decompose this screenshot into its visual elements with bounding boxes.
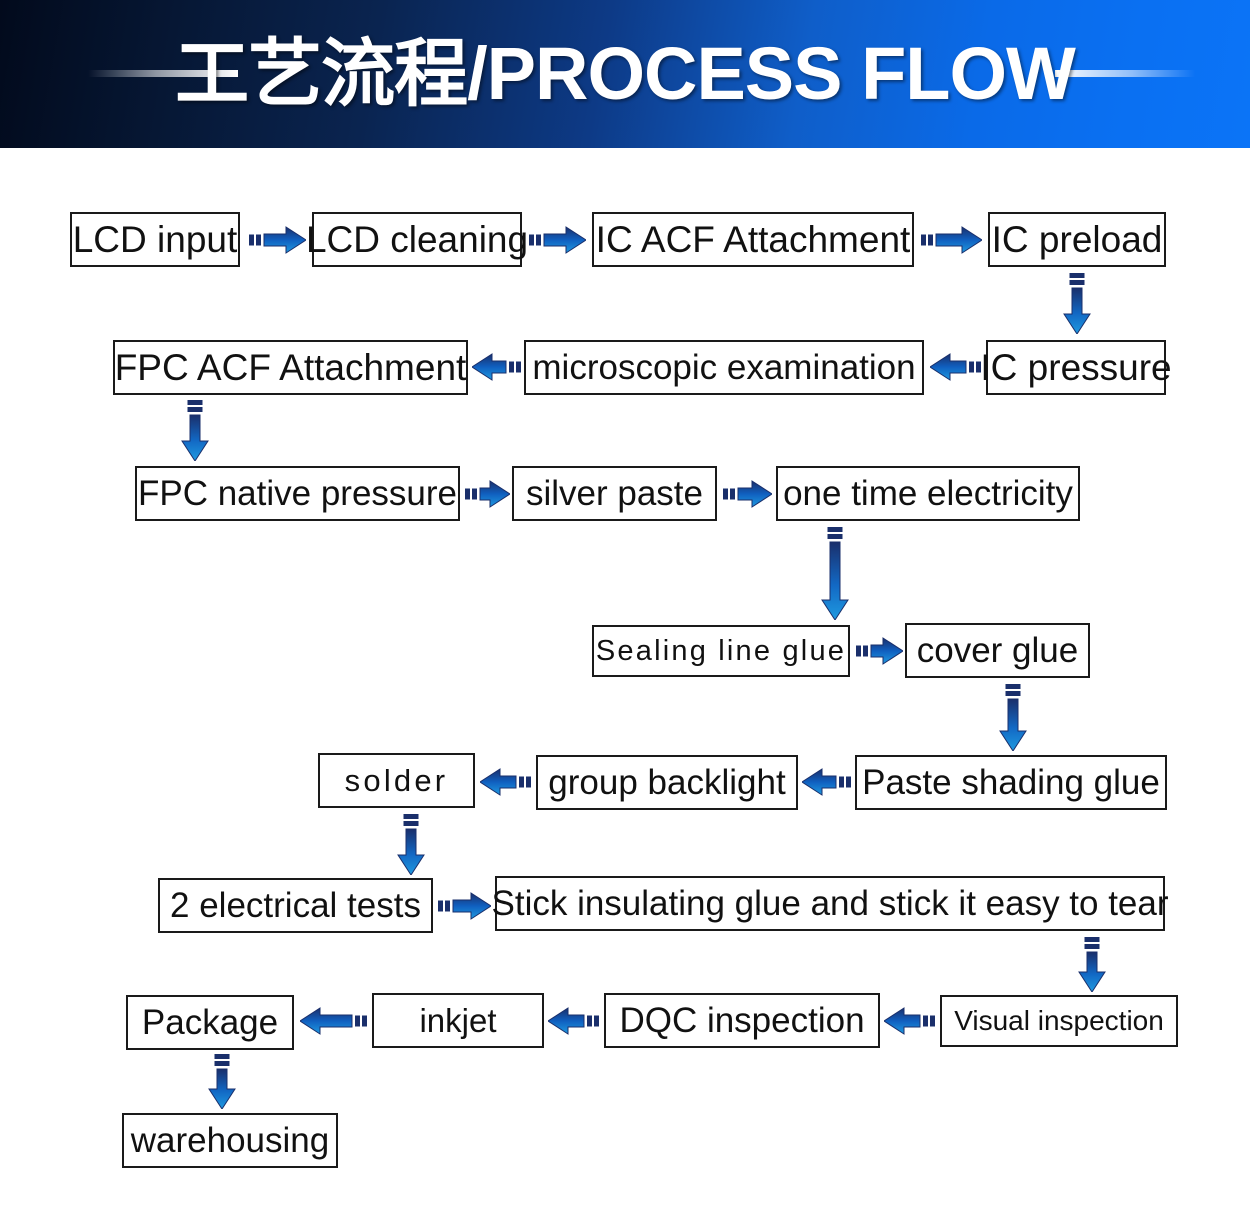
process-step-ic-pressure: IC pressure — [986, 340, 1166, 395]
process-step-visual-inspection: Visual inspection — [940, 995, 1178, 1047]
process-step-label: one time electricity — [783, 476, 1073, 511]
process-step-label: FPC ACF Attachment — [115, 349, 467, 386]
process-step-label: Visual inspection — [954, 1007, 1164, 1035]
process-step-cover-glue: cover glue — [905, 623, 1090, 678]
flow-arrow-down-n12-to-n13 — [998, 683, 1028, 751]
page-title: 工艺流程/PROCESS FLOW — [0, 0, 1250, 148]
flow-arrow-right-n11-to-n12 — [855, 636, 903, 666]
process-step-inkjet: inkjet — [372, 993, 544, 1048]
flow-arrow-down-n7-to-n8 — [180, 399, 210, 461]
process-step-label: LCD input — [73, 221, 238, 258]
process-flow-diagram: LCD inputLCD cleaningIC ACF AttachmentIC… — [0, 148, 1250, 1226]
process-step-label: inkjet — [419, 1004, 496, 1037]
process-step-fpc-acf-attachment: FPC ACF Attachment — [113, 340, 468, 395]
flow-arrow-down-n4-to-n5 — [1062, 272, 1092, 334]
flow-arrow-right-n9-to-n10 — [722, 479, 772, 509]
flow-arrow-right-n3-to-n4 — [920, 225, 982, 255]
process-step-package: Package — [126, 995, 294, 1050]
flow-arrow-right-n1-to-n2 — [248, 225, 306, 255]
process-step-sealing-line-glue: Sealing line glue — [592, 625, 850, 677]
process-step-label: LCD cleaning — [306, 221, 528, 258]
process-step-microscopic-examination: microscopic examination — [524, 340, 924, 395]
process-step-paste-shading-glue: Paste shading glue — [855, 755, 1167, 810]
flow-arrow-left-n14-to-n15 — [480, 767, 532, 797]
process-step-label: group backlight — [548, 765, 785, 800]
process-step-stick-insulating-glue-and-stick-it-easy-: Stick insulating glue and stick it easy … — [495, 876, 1165, 931]
process-step-silver-paste: silver paste — [512, 466, 717, 521]
flow-arrow-left-n19-to-n20 — [548, 1006, 600, 1036]
process-step-label: Sealing line glue — [596, 637, 846, 666]
process-step-label: 2 electrical tests — [170, 888, 421, 923]
process-step-label: Stick insulating glue and stick it easy … — [492, 886, 1169, 921]
flow-arrow-right-n2-to-n3 — [528, 225, 586, 255]
process-step-label: silver paste — [526, 476, 703, 511]
process-step-label: DQC inspection — [619, 1003, 864, 1038]
process-step-label: microscopic examination — [532, 350, 915, 385]
process-step-fpc-native-pressure: FPC native pressure — [135, 466, 460, 521]
flow-arrow-down-n21-to-n22 — [207, 1053, 237, 1109]
process-step-solder: solder — [318, 753, 475, 808]
flow-arrow-down-n15-to-n16 — [396, 813, 426, 875]
flow-arrow-left-n13-to-n14 — [802, 767, 852, 797]
flow-arrow-down-n17-to-n18 — [1077, 936, 1107, 992]
process-step-label: solder — [345, 765, 449, 796]
flow-arrow-left-n6-to-n7 — [472, 352, 522, 382]
process-step-dqc-inspection: DQC inspection — [604, 993, 880, 1048]
header-banner: 工艺流程/PROCESS FLOW — [0, 0, 1250, 148]
process-step-group-backlight: group backlight — [536, 755, 798, 810]
process-step-label: Paste shading glue — [862, 765, 1160, 800]
flow-arrow-left-n5-to-n6 — [930, 352, 982, 382]
flow-arrow-right-n8-to-n9 — [464, 479, 510, 509]
process-step-label: FPC native pressure — [138, 476, 457, 511]
process-step-2-electrical-tests: 2 electrical tests — [158, 878, 433, 933]
process-step-one-time-electricity: one time electricity — [776, 466, 1080, 521]
process-step-lcd-cleaning: LCD cleaning — [312, 212, 522, 267]
process-step-ic-preload: IC preload — [988, 212, 1166, 267]
process-step-label: IC ACF Attachment — [596, 221, 911, 258]
flow-arrow-down-n10-to-n11 — [820, 526, 850, 620]
flow-arrow-right-n16-to-n17 — [437, 891, 491, 921]
flow-arrow-left-n18-to-n19 — [884, 1006, 936, 1036]
process-step-label: warehousing — [131, 1123, 329, 1158]
process-step-label: IC preload — [992, 221, 1163, 258]
process-step-ic-acf-attachment: IC ACF Attachment — [592, 212, 914, 267]
process-step-warehousing: warehousing — [122, 1113, 338, 1168]
process-step-lcd-input: LCD input — [70, 212, 240, 267]
process-step-label: IC pressure — [980, 349, 1171, 386]
process-step-label: Package — [142, 1005, 278, 1040]
flow-arrow-left-n20-to-n21 — [300, 1006, 368, 1036]
process-step-label: cover glue — [917, 633, 1078, 668]
